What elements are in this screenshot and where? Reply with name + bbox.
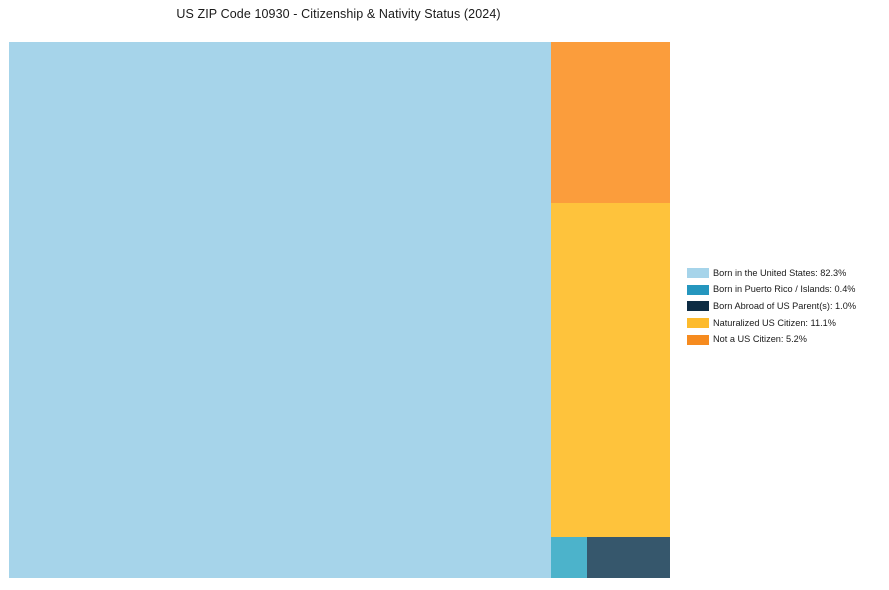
treemap-tile-born-in-the-united-states[interactable]: Born in the United States: [9, 42, 551, 578]
legend-label: Born in Puerto Rico / Islands: 0.4%: [713, 284, 855, 295]
legend-entry[interactable]: Naturalized US Citizen: 11.1%: [687, 315, 883, 332]
legend-entry[interactable]: Born in the United States: 82.3%: [687, 265, 883, 282]
legend-entry[interactable]: Not a US Citizen: 5.2%: [687, 331, 883, 348]
legend-entry[interactable]: Born in Puerto Rico / Islands: 0.4%: [687, 282, 883, 299]
legend-swatch-icon: [687, 335, 709, 345]
treemap-tile-naturalized-us-citizen[interactable]: Naturalized US Citizen: [551, 203, 670, 537]
treemap-plot-area: Born in the United StatesNot a US Citize…: [9, 42, 670, 578]
treemap-tile-born-abroad-of-us-parents[interactable]: Born Abroad of US Parent(s): [587, 537, 670, 578]
legend-label: Born in the United States: 82.3%: [713, 268, 846, 279]
treemap-tile-born-in-puerto-rico-islands[interactable]: Born in Puerto Rico / Islands: [551, 537, 587, 578]
treemap-chart: US ZIP Code 10930 - Citizenship & Nativi…: [0, 0, 889, 590]
chart-legend: Born in the United States: 82.3%Born in …: [687, 265, 883, 348]
legend-swatch-icon: [687, 285, 709, 295]
legend-entry[interactable]: Born Abroad of US Parent(s): 1.0%: [687, 298, 883, 315]
legend-label: Naturalized US Citizen: 11.1%: [713, 318, 836, 329]
treemap-tile-not-a-us-citizen[interactable]: Not a US Citizen: [551, 42, 670, 203]
legend-label: Not a US Citizen: 5.2%: [713, 334, 807, 345]
legend-label: Born Abroad of US Parent(s): 1.0%: [713, 301, 856, 312]
legend-swatch-icon: [687, 268, 709, 278]
legend-swatch-icon: [687, 318, 709, 328]
chart-title: US ZIP Code 10930 - Citizenship & Nativi…: [0, 7, 677, 21]
legend-swatch-icon: [687, 301, 709, 311]
